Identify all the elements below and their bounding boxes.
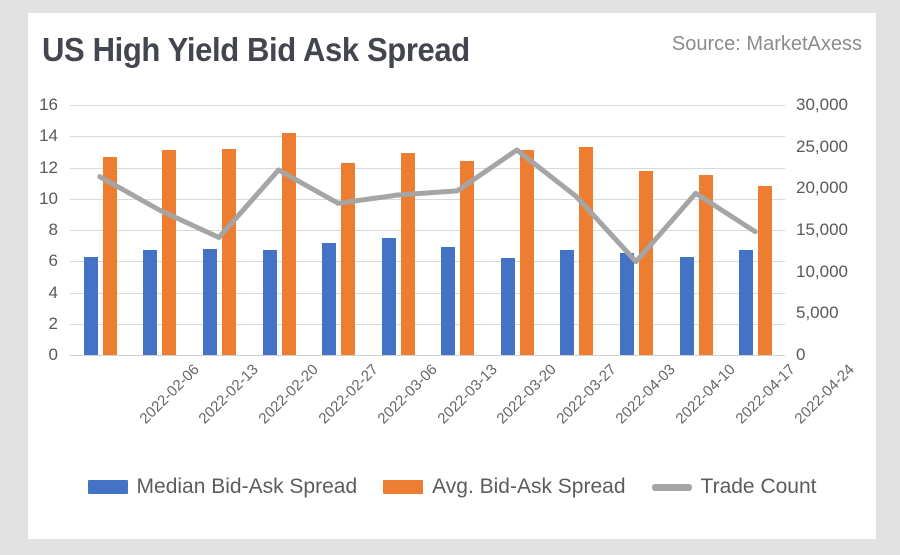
y-axis-left-tick: 10 [39, 190, 58, 207]
legend-color-icon [383, 480, 423, 494]
y-axis-left-tick: 4 [49, 284, 58, 301]
x-axis-tick: 2022-04-24 [792, 361, 858, 427]
legend-item[interactable]: Trade Count [652, 475, 817, 499]
y-axis-right-tick: 15,000 [796, 221, 848, 238]
y-axis-right-tick: 5,000 [796, 304, 839, 321]
trade-count-line [70, 105, 785, 355]
y-axis-right-tick: 0 [796, 346, 805, 363]
legend-color-icon [88, 480, 128, 494]
x-axis-labels: 2022-02-062022-02-132022-02-202022-02-27… [70, 357, 785, 467]
trade-count-polyline [100, 150, 755, 262]
legend-item[interactable]: Median Bid-Ask Spread [88, 475, 358, 499]
y-axis-left: 0246810121416 [4, 105, 64, 355]
y-axis-right-tick: 25,000 [796, 138, 848, 155]
y-axis-left-tick: 0 [49, 346, 58, 363]
x-axis-tick: 2022-04-03 [613, 361, 679, 427]
chart-card: US High Yield Bid Ask Spread Source: Mar… [28, 13, 876, 539]
source-note: Source: MarketAxess [672, 33, 862, 56]
x-axis-tick: 2022-03-13 [434, 361, 500, 427]
x-axis-tick: 2022-03-20 [494, 361, 560, 427]
y-axis-left-tick: 12 [39, 159, 58, 176]
x-axis-tick: 2022-04-10 [673, 361, 739, 427]
page-title: US High Yield Bid Ask Spread [42, 31, 470, 69]
legend: Median Bid-Ask SpreadAvg. Bid-Ask Spread… [28, 475, 876, 499]
y-axis-left-tick: 8 [49, 221, 58, 238]
y-axis-right: 05,00010,00015,00020,00025,00030,000 [790, 105, 850, 355]
y-axis-right-tick: 30,000 [796, 96, 848, 113]
legend-line-icon [652, 484, 692, 491]
x-axis-tick: 2022-02-13 [196, 361, 262, 427]
y-axis-left-tick: 14 [39, 127, 58, 144]
legend-item[interactable]: Avg. Bid-Ask Spread [383, 475, 625, 499]
x-axis-tick: 2022-02-06 [136, 361, 202, 427]
y-axis-left-tick: 6 [49, 252, 58, 269]
x-axis-tick: 2022-03-27 [553, 361, 619, 427]
legend-label: Median Bid-Ask Spread [137, 475, 358, 499]
legend-label: Trade Count [701, 475, 817, 499]
y-axis-right-tick: 10,000 [796, 263, 848, 280]
x-axis-tick: 2022-02-27 [315, 361, 381, 427]
x-axis-tick: 2022-03-06 [375, 361, 441, 427]
y-axis-left-tick: 2 [49, 315, 58, 332]
x-axis-line [70, 355, 785, 356]
y-axis-left-tick: 16 [39, 96, 58, 113]
legend-label: Avg. Bid-Ask Spread [432, 475, 625, 499]
x-axis-tick: 2022-02-20 [255, 361, 321, 427]
x-axis-tick: 2022-04-17 [732, 361, 798, 427]
y-axis-right-tick: 20,000 [796, 179, 848, 196]
plot-area [70, 105, 785, 355]
